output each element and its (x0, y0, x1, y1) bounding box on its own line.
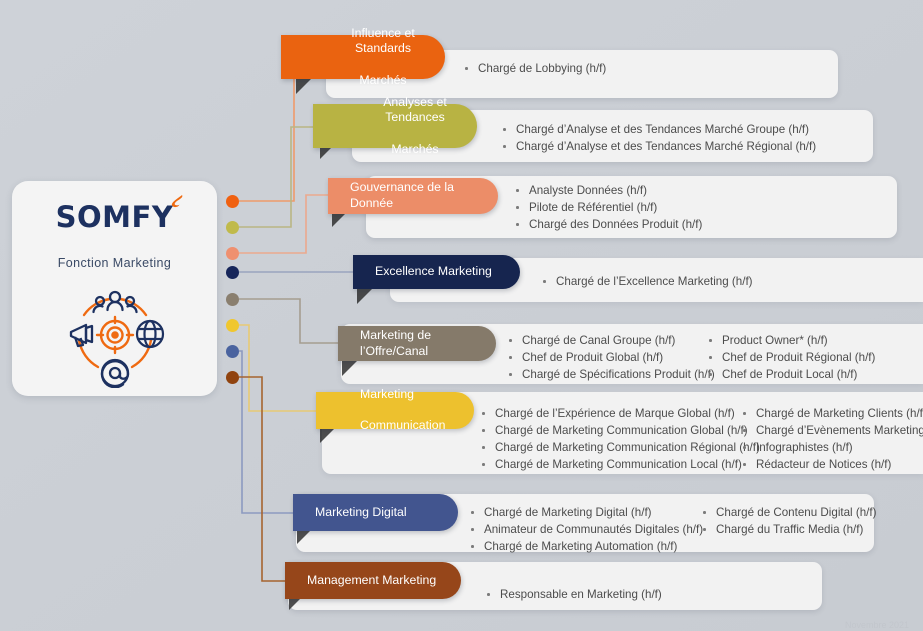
role-item: Rédacteur de Notices (h/f) (740, 456, 923, 473)
role-item: Animateur de Communautés Digitales (h/f) (468, 521, 703, 538)
role-item: Chargé de Spécifications Produit (h/f) (506, 366, 715, 383)
branch-tag-excellence[interactable]: Excellence Marketing (353, 255, 520, 289)
brand-subtitle: Fonction Marketing (58, 256, 172, 270)
roles-ul: Chargé de Canal Groupe (h/f) Chef de Pro… (506, 332, 715, 383)
role-item: Chargé de Lobbying (h/f) (462, 60, 606, 77)
tag-fold-shadow (342, 361, 357, 376)
branch-tag-gouvernance[interactable]: Gouvernance de la Donnée (328, 178, 498, 214)
role-item: Chargé d’Analyse et des Tendances Marché… (500, 121, 816, 138)
role-item: Chargé du Traffic Media (h/f) (700, 521, 876, 538)
roles-list-left: Chargé de l’Excellence Marketing (h/f) (540, 273, 753, 290)
role-item: Product Owner* (h/f) (706, 332, 875, 349)
branch-dot-digital[interactable] (226, 345, 239, 358)
roles-list-right: Chargé de Contenu Digital (h/f) Chargé d… (700, 504, 876, 538)
roles-list-left: Chargé de Canal Groupe (h/f) Chef de Pro… (506, 332, 715, 383)
roles-list-right: Product Owner* (h/f) Chef de Produit Rég… (706, 332, 875, 383)
tag-fold-shadow (357, 289, 372, 304)
role-item: Analyste Données (h/f) (513, 182, 702, 199)
role-item: Chef de Produit Global (h/f) (506, 349, 715, 366)
branch-tag-label: Gouvernance de la Donnée (328, 180, 498, 211)
roles-list-left: Chargé de Lobbying (h/f) (462, 60, 606, 77)
branch-dot-gouvernance[interactable] (226, 247, 239, 260)
branch-dot-management[interactable] (226, 371, 239, 384)
role-item: Chargé de Marketing Communication Global… (479, 422, 760, 439)
roles-ul: Responsable en Marketing (h/f) (484, 586, 662, 603)
roles-list-left: Chargé de Marketing Digital (h/f) Animat… (468, 504, 703, 555)
roles-ul: Chargé d’Analyse et des Tendances Marché… (500, 121, 816, 155)
branch-dot-offre-canal[interactable] (226, 293, 239, 306)
role-item: Chargé de Contenu Digital (h/f) (700, 504, 876, 521)
branch-tag-influence[interactable]: Influence et StandardsMarchés (281, 35, 445, 79)
tag-fold-shadow (297, 529, 312, 544)
role-item: Chargé d’Evènements Marketing (h (740, 422, 923, 439)
logo-wordmark: SOMFY (56, 203, 174, 232)
role-item: Infographistes (h/f) (740, 439, 923, 456)
branch-tag-analyses[interactable]: Analyses et TendancesMarchés (313, 104, 477, 148)
roles-ul: Analyste Données (h/f) Pilote de Référen… (513, 182, 702, 233)
marketing-functions-diagram-icon (62, 282, 168, 393)
role-item: Chargé de l’Excellence Marketing (h/f) (540, 273, 753, 290)
role-item: Chargé de Marketing Clients (h/f) (740, 405, 923, 422)
roles-list-left: Responsable en Marketing (h/f) (484, 586, 662, 603)
roles-list-right: Chargé de Marketing Clients (h/f) Chargé… (740, 405, 923, 473)
org-chart-canvas: SOMFY Fonction Marketing (0, 0, 923, 631)
branch-tag-label: Excellence Marketing (353, 264, 520, 280)
branch-dot-communication[interactable] (226, 319, 239, 332)
roles-ul: Chargé de Marketing Digital (h/f) Animat… (468, 504, 703, 555)
role-item: Chargé de l’Expérience de Marque Global … (479, 405, 760, 422)
role-item: Chargé de Canal Groupe (h/f) (506, 332, 715, 349)
role-item: Chef de Produit Régional (h/f) (706, 349, 875, 366)
role-item: Responsable en Marketing (h/f) (484, 586, 662, 603)
role-item: Chargé de Marketing Communication Local … (479, 456, 760, 473)
somfy-logo: SOMFY (56, 203, 174, 232)
branch-dot-analyses[interactable] (226, 221, 239, 234)
branch-tag-label: Marketing Digital (293, 505, 458, 521)
brand-card: SOMFY Fonction Marketing (12, 181, 217, 396)
somfy-swoosh-icon (171, 195, 186, 214)
roles-list-left: Chargé d’Analyse et des Tendances Marché… (500, 121, 816, 155)
branch-tag-label: Analyses et TendancesMarchés (313, 95, 477, 158)
role-item: Chargé de Marketing Digital (h/f) (468, 504, 703, 521)
branch-tag-management[interactable]: Management Marketing (285, 562, 461, 599)
roles-list-left: Chargé de l’Expérience de Marque Global … (479, 405, 760, 473)
role-item: Chargé d’Analyse et des Tendances Marché… (500, 138, 816, 155)
branch-tag-offre-canal[interactable]: Marketing de l’Offre/Canal (338, 326, 496, 361)
roles-ul: Product Owner* (h/f) Chef de Produit Rég… (706, 332, 875, 383)
role-item: Chef de Produit Local (h/f) (706, 366, 875, 383)
branch-tag-label: Influence et StandardsMarchés (281, 26, 445, 89)
role-item: Chargé de Marketing Communication Région… (479, 439, 760, 456)
roles-ul: Chargé de Lobbying (h/f) (462, 60, 606, 77)
roles-ul: Chargé de l’Expérience de Marque Global … (479, 405, 760, 473)
footnote-date: Novembre 2021 (845, 620, 909, 630)
roles-ul: Chargé de Marketing Clients (h/f) Chargé… (740, 405, 923, 473)
role-item: Chargé des Données Produit (h/f) (513, 216, 702, 233)
branch-tag-communication[interactable]: MarketingCommunication (316, 392, 474, 429)
branch-dot-influence[interactable] (226, 195, 239, 208)
role-item: Chargé de Marketing Automation (h/f) (468, 538, 703, 555)
tag-fold-shadow (332, 212, 347, 227)
role-item: Pilote de Référentiel (h/f) (513, 199, 702, 216)
branch-dot-excellence[interactable] (226, 266, 239, 279)
roles-ul: Chargé de l’Excellence Marketing (h/f) (540, 273, 753, 290)
roles-ul: Chargé de Contenu Digital (h/f) Chargé d… (700, 504, 876, 538)
branch-tag-label: MarketingCommunication (316, 387, 477, 434)
roles-list-left: Analyste Données (h/f) Pilote de Référen… (513, 182, 702, 233)
branch-tag-label: Marketing de l’Offre/Canal (338, 328, 496, 359)
branch-tag-digital[interactable]: Marketing Digital (293, 494, 458, 531)
branch-tag-label: Management Marketing (285, 573, 461, 589)
